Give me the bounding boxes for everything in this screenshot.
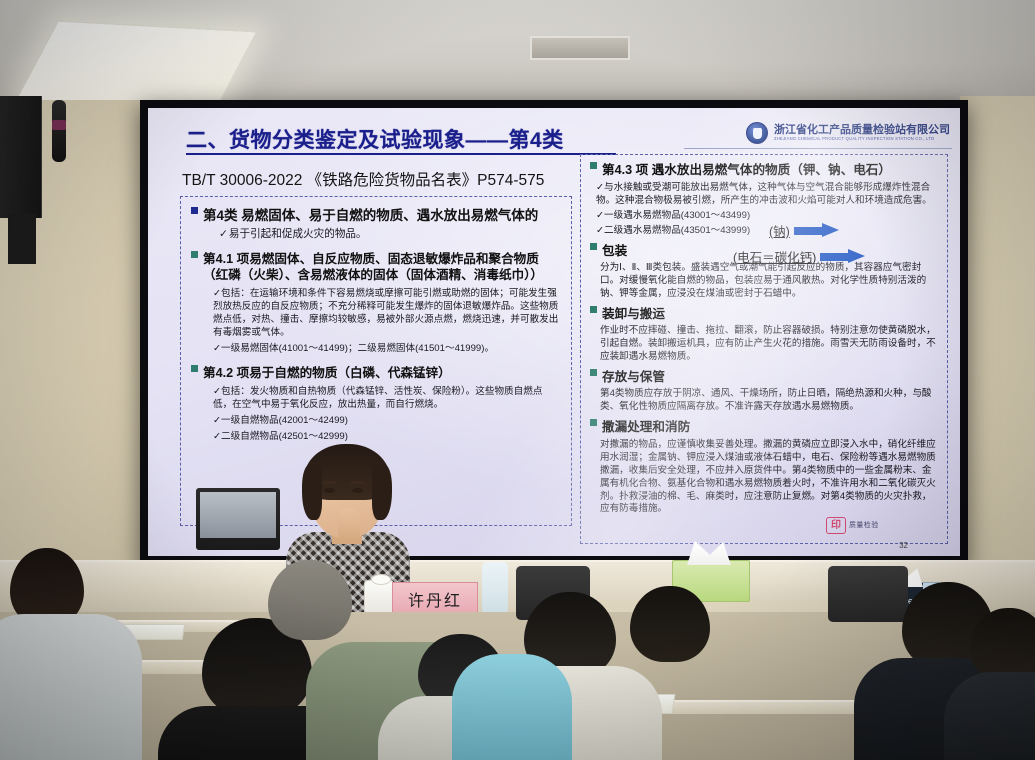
check-icon: ✓ (596, 182, 604, 193)
storage-body: 第4类物质应存放于阴凉、通风、干燥场所，防止日晒，隔绝热源和火种，与酸类、氧化性… (600, 388, 938, 414)
item43-code2-row: ✓二级遇水易燃物品(43501～43999) (596, 225, 938, 238)
audience-member (616, 586, 736, 718)
wall-speaker (0, 96, 42, 218)
arrow-right-icon (820, 249, 866, 264)
presenter-brow-right (350, 481, 364, 484)
stamp-icon: 印 (826, 517, 846, 534)
item43-heading-row: 第4.3 项 遇水放出易燃气体的物质（钾、钠、电石） (590, 162, 938, 178)
packaging-body: 分为Ⅰ、Ⅱ、Ⅲ类包装。盛装遇空气或潮气能引起反应的物质，其容器应气密封口。对缓慢… (600, 262, 938, 301)
square-bullet-icon (590, 243, 597, 250)
speaker-bracket (8, 214, 36, 264)
square-bullet-icon (191, 251, 198, 258)
wall-right (960, 96, 1035, 616)
square-bullet-icon (191, 365, 198, 372)
slide-page-number: 32 (899, 541, 908, 550)
standard-reference: TB/T 30006-2022 《铁路危险货物品名表》P574-575 (182, 168, 544, 190)
title-underline (186, 153, 616, 155)
presenter-hair-right (372, 464, 392, 520)
item42-code1-row: ✓一级自燃物品(42001～42499) (213, 415, 561, 428)
laptop (196, 488, 280, 550)
audience-member (452, 614, 562, 760)
storage-heading: 存放与保管 (602, 369, 938, 385)
handling-heading-row: 装卸与搬运 (590, 306, 938, 322)
shoulders (452, 654, 572, 760)
head (970, 608, 1035, 682)
presenter-hair-left (302, 464, 322, 520)
class4-heading-row: 第4类 易燃固体、易于自燃的物质、遇水放出易燃气体的 (191, 207, 561, 224)
right-content-box: 第4.3 项 遇水放出易燃气体的物质（钾、钠、电石） ✓与水接触或受潮可能放出易… (580, 154, 948, 544)
item42-code2-row: ✓二级自燃物品(42501～42999) (213, 431, 561, 444)
item42-detail-row: ✓包括：发火物质和自热物质（代森锰锌、活性炭、保险粉）。这些物质自燃点低，在空气… (213, 386, 561, 412)
logo-divider (684, 148, 952, 149)
item43-code1: 一级遇水易燃物品(43001～43499) (604, 210, 750, 221)
class4-note-row: ✓易于引起和促成火灾的物品。 (219, 228, 561, 242)
check-icon: ✓ (213, 343, 221, 354)
square-bullet-icon (590, 369, 597, 376)
check-icon: ✓ (213, 431, 221, 442)
audience-member (0, 548, 130, 760)
annotation-sodium: (钠) (769, 221, 840, 240)
presenter-eye-right (352, 488, 363, 493)
item41-codes-row: ✓一级易燃固体(41001～41499)；二级易燃固体(41501～41999)… (213, 343, 561, 356)
item43-code2: 二级遇水易燃物品(43501～43999) (604, 225, 750, 236)
class4-note: 易于引起和促成火灾的物品。 (229, 228, 367, 240)
company-name-cn: 浙江省化工产品质量检验站有限公司 (774, 125, 950, 137)
ceiling-air-vent (530, 36, 630, 60)
shoulders (0, 614, 142, 760)
item42-code2: 二级自燃物品(42501～42999) (221, 431, 348, 442)
check-icon: ✓ (213, 386, 221, 397)
arrow-right-icon (794, 223, 840, 238)
item41-detail: 包括：在运输环境和条件下容易燃烧或摩擦可能引燃或助燃的固体；可能发生强烈放热反应… (213, 288, 558, 338)
item41-codes: 一级易燃固体(41001～41499)；二级易燃固体(41501～41999)。 (221, 343, 494, 354)
microphone-band (52, 120, 66, 130)
item41-heading: 第4.1 项易燃固体、自反应物质、固态退敏爆炸品和聚合物质（红磷（火柴）、含易燃… (203, 251, 561, 283)
watermark-text: 质量检验 (849, 520, 879, 530)
spill-heading-row: 撒漏处理和消防 (590, 419, 938, 435)
item43-heading: 第4.3 项 遇水放出易燃气体的物质（钾、钠、电石） (602, 162, 938, 178)
presenter-eye-left (324, 488, 335, 493)
company-logo-text: 浙江省化工产品质量检验站有限公司 ZHEJIANG CHEMICAL PRODU… (774, 125, 950, 141)
company-emblem-icon (746, 122, 768, 144)
item41-detail-row: ✓包括：在运输环境和条件下容易燃烧或摩擦可能引燃或助燃的固体；可能发生强烈放热反… (213, 288, 561, 340)
check-icon: ✓ (596, 225, 604, 236)
item42-heading: 第4.2 项易于自燃的物质（白磷、代森锰锌） (203, 365, 561, 381)
classroom-scene: 二、货物分类鉴定及试验现象——第4类 浙江省化工产品质量检验站有限公司 ZHEJ… (0, 0, 1035, 760)
nameplate-text: 许丹红 (408, 587, 462, 611)
watermark: 印 质量检验 (826, 512, 946, 538)
item43-code1-row: ✓一级遇水易燃物品(43001～43499) (596, 210, 938, 223)
check-icon: ✓ (213, 415, 221, 426)
class4-heading: 第4类 易燃固体、易于自燃的物质、遇水放出易燃气体的 (203, 207, 561, 224)
head (630, 586, 710, 662)
item42-detail: 包括：发火物质和自热物质（代森锰锌、活性炭、保险粉）。这些物质自燃点低，在空气中… (213, 386, 542, 410)
check-icon: ✓ (596, 210, 604, 221)
presenter-brow-left (322, 481, 336, 484)
item42-heading-row: 第4.2 项易于自燃的物质（白磷、代森锰锌） (191, 365, 561, 381)
item41-heading-row: 第4.1 项易燃固体、自反应物质、固态退敏爆炸品和聚合物质（红磷（火柴）、含易燃… (191, 251, 561, 283)
square-bullet-icon (191, 207, 198, 214)
square-bullet-icon (590, 306, 597, 313)
item43-detail: 与水接触或受潮可能放出易燃气体，这种气体与空气混合能够形成爆炸性混合物。这种混合… (596, 182, 932, 206)
company-name-en: ZHEJIANG CHEMICAL PRODUCT QUALITY INSPEC… (774, 137, 950, 141)
laptop-screen (200, 492, 276, 538)
item42-code1: 一级自燃物品(42001～42499) (221, 415, 348, 426)
presenter-hand (338, 508, 360, 542)
square-bullet-icon (590, 162, 597, 169)
company-logo: 浙江省化工产品质量检验站有限公司 ZHEJIANG CHEMICAL PRODU… (746, 122, 950, 144)
shoulders (944, 672, 1035, 760)
storage-heading-row: 存放与保管 (590, 369, 938, 385)
square-bullet-icon (590, 419, 597, 426)
nameplate: 许丹红 (392, 582, 478, 616)
audience-member (960, 608, 1035, 760)
annotation-carbide-label: (电石＝碳化钙) (733, 247, 816, 266)
check-icon: ✓ (219, 228, 228, 240)
spill-body: 对撒漏的物品，应谨慎收集妥善处理。撒漏的黄磷应立即浸入水中，硝化纤维应用水润湿；… (600, 439, 938, 517)
handling-body: 作业时不应摔碰、撞击、拖拉、翻滚，防止容器破损。特别注意勿使黄磷脱水，引起自燃。… (600, 325, 938, 364)
check-icon: ✓ (213, 288, 221, 299)
annotation-carbide: (电石＝碳化钙) (733, 247, 866, 266)
microphone (52, 100, 66, 162)
handling-heading: 装卸与搬运 (602, 306, 938, 322)
item43-detail-row: ✓与水接触或受潮可能放出易燃气体，这种气体与空气混合能够形成爆炸性混合物。这种混… (596, 182, 938, 208)
ceiling-light-panel (16, 21, 258, 112)
annotation-sodium-label: (钠) (769, 221, 790, 240)
spill-heading: 撒漏处理和消防 (602, 419, 938, 435)
